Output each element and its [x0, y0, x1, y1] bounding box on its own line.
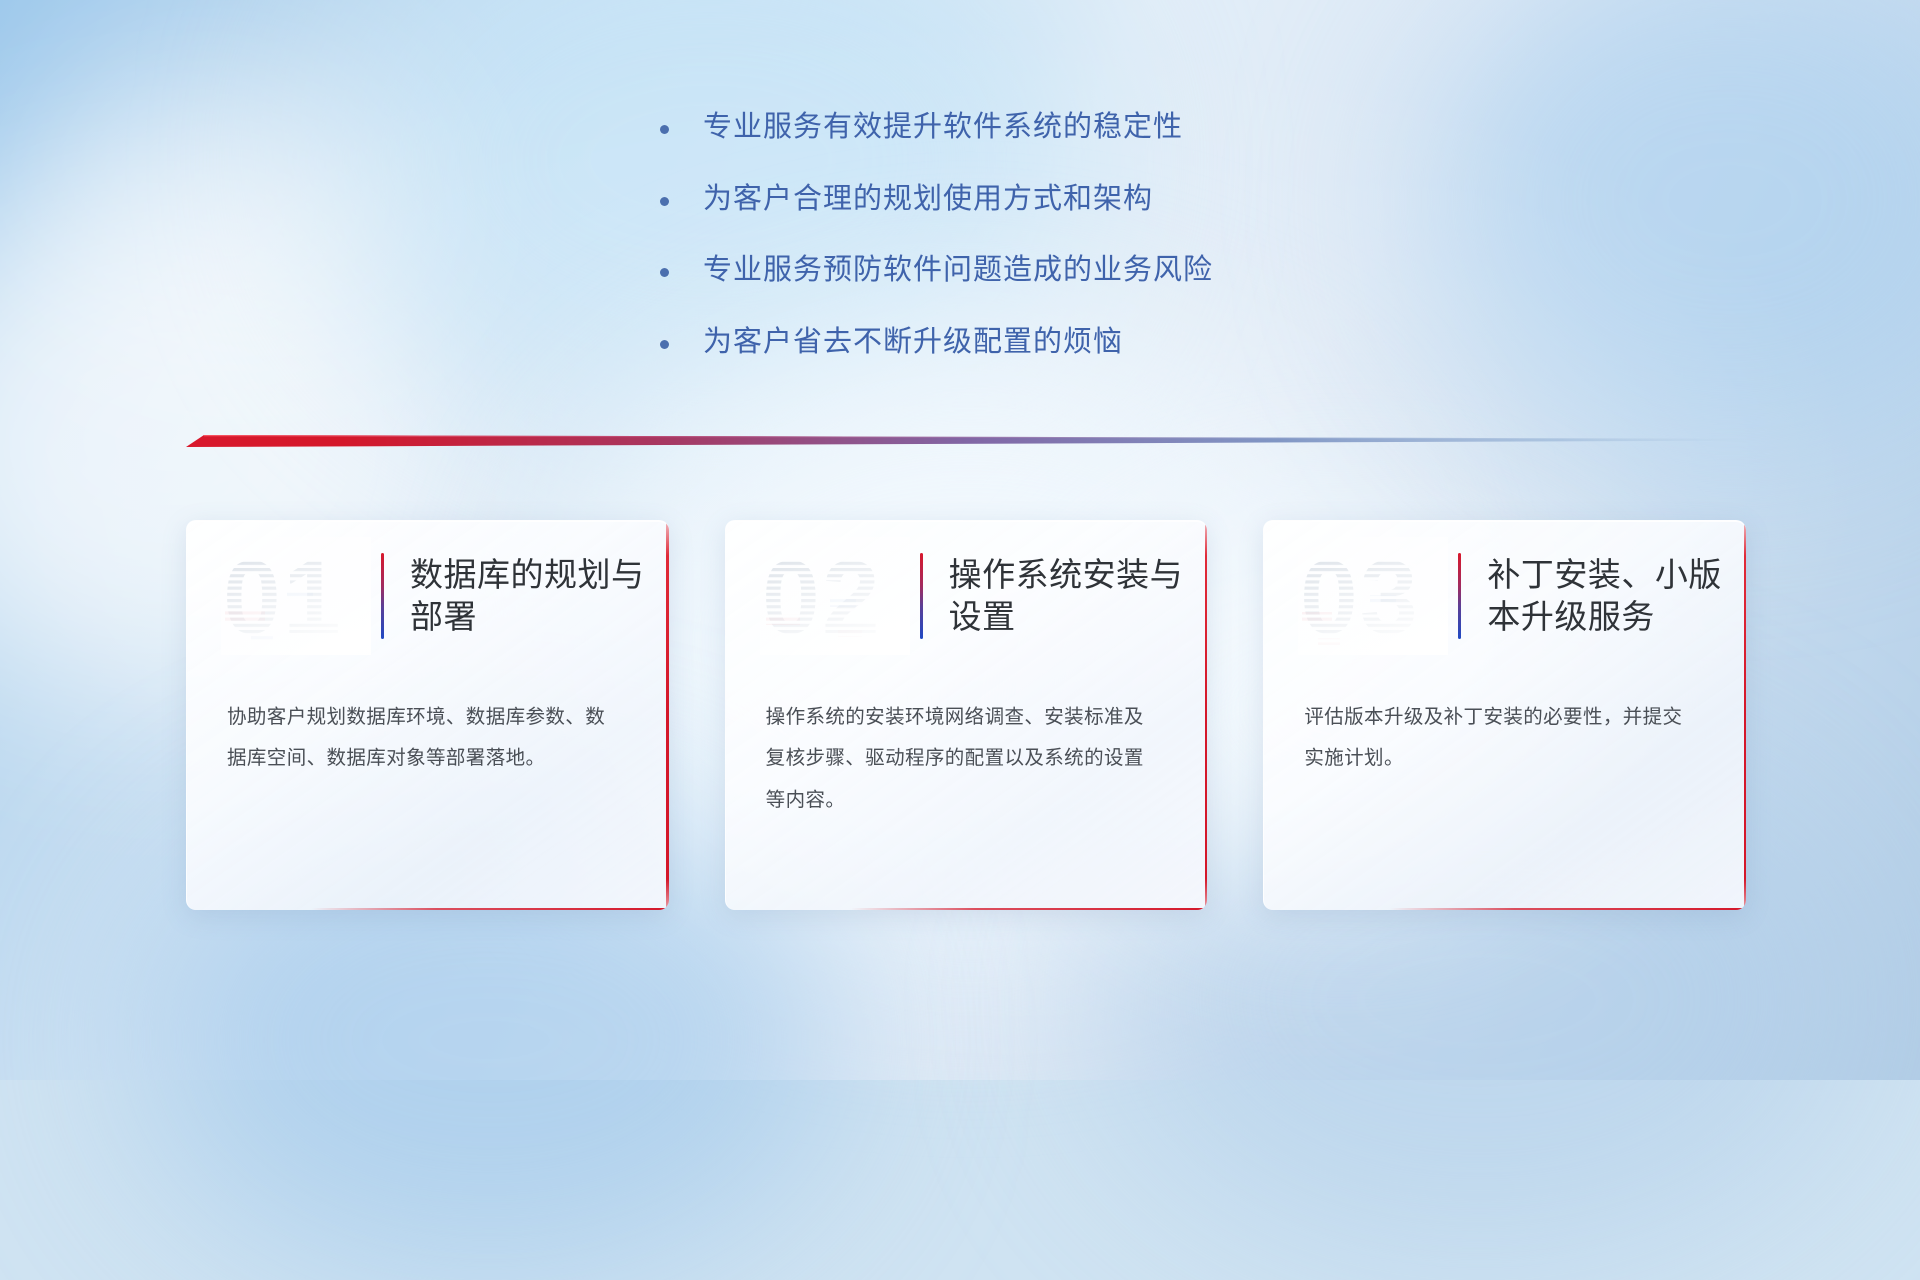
bullet-item-label: 专业服务预防软件问题造成的业务风险: [703, 249, 1213, 293]
card-title-rule: [381, 553, 384, 639]
card-description: 协助客户规划数据库环境、数据库参数、数据库空间、数据库对象等部署落地。: [187, 671, 669, 780]
section-divider: [186, 430, 1746, 452]
card-accent-edge-bottom: [312, 908, 668, 911]
card-title: 补丁安装、小版本升级服务: [1487, 554, 1746, 638]
service-card-list: 01 ▬ ▬ ▬ 数据库的规划与部署 协助客户规划数据库环境、数据库参数、数据库…: [186, 520, 1746, 910]
list-item: 为客户省去不断升级配置的烦恼: [660, 321, 1420, 365]
card-header: 02 ▬ ▬ ▬ 操作系统安装与设置: [726, 521, 1208, 671]
card-description: 操作系统的安装环境网络调查、安装标准及复核步骤、驱动程序的配置以及系统的设置等内…: [726, 671, 1208, 821]
bullet-dot-icon: [660, 268, 669, 277]
list-item: 专业服务有效提升软件系统的稳定性: [660, 106, 1420, 150]
service-card[interactable]: 01 ▬ ▬ ▬ 数据库的规划与部署 协助客户规划数据库环境、数据库参数、数据库…: [186, 520, 669, 910]
slide-stage: 专业服务有效提升软件系统的稳定性 为客户合理的规划使用方式和架构 专业服务预防软…: [0, 0, 1920, 1080]
list-item: 为客户合理的规划使用方式和架构: [660, 178, 1420, 222]
card-accent-edge-bottom: [851, 908, 1207, 911]
list-item: 专业服务预防软件问题造成的业务风险: [660, 249, 1420, 293]
card-title-rule: [920, 553, 923, 639]
card-header: 03 ▬ ▬ ▬ 补丁安装、小版本升级服务: [1264, 521, 1746, 671]
bullet-dot-icon: [660, 340, 669, 349]
card-title: 数据库的规划与部署: [410, 554, 669, 638]
bullet-item-label: 为客户省去不断升级配置的烦恼: [703, 321, 1123, 365]
card-title: 操作系统安装与设置: [949, 554, 1208, 638]
bullet-item-label: 专业服务有效提升软件系统的稳定性: [703, 106, 1183, 150]
service-card[interactable]: 02 ▬ ▬ ▬ 操作系统安装与设置 操作系统的安装环境网络调查、安装标准及复核…: [725, 520, 1208, 910]
card-title-rule: [1458, 553, 1461, 639]
bullet-dot-icon: [660, 125, 669, 134]
benefits-bullet-list: 专业服务有效提升软件系统的稳定性 为客户合理的规划使用方式和架构 专业服务预防软…: [660, 106, 1420, 392]
service-card[interactable]: 03 ▬ ▬ ▬ 补丁安装、小版本升级服务 评估版本升级及补丁安装的必要性，并提…: [1263, 520, 1746, 910]
card-number-watermark: 03 ▬ ▬ ▬: [1298, 537, 1448, 655]
card-accent-edge-bottom: [1390, 908, 1746, 911]
bullet-item-label: 为客户合理的规划使用方式和架构: [703, 178, 1153, 222]
card-number-watermark: 02 ▬ ▬ ▬: [760, 537, 910, 655]
bullet-dot-icon: [660, 197, 669, 206]
card-number-watermark: 01 ▬ ▬ ▬: [221, 537, 371, 655]
card-description: 评估版本升级及补丁安装的必要性，并提交实施计划。: [1264, 671, 1746, 780]
card-header: 01 ▬ ▬ ▬ 数据库的规划与部署: [187, 521, 669, 671]
